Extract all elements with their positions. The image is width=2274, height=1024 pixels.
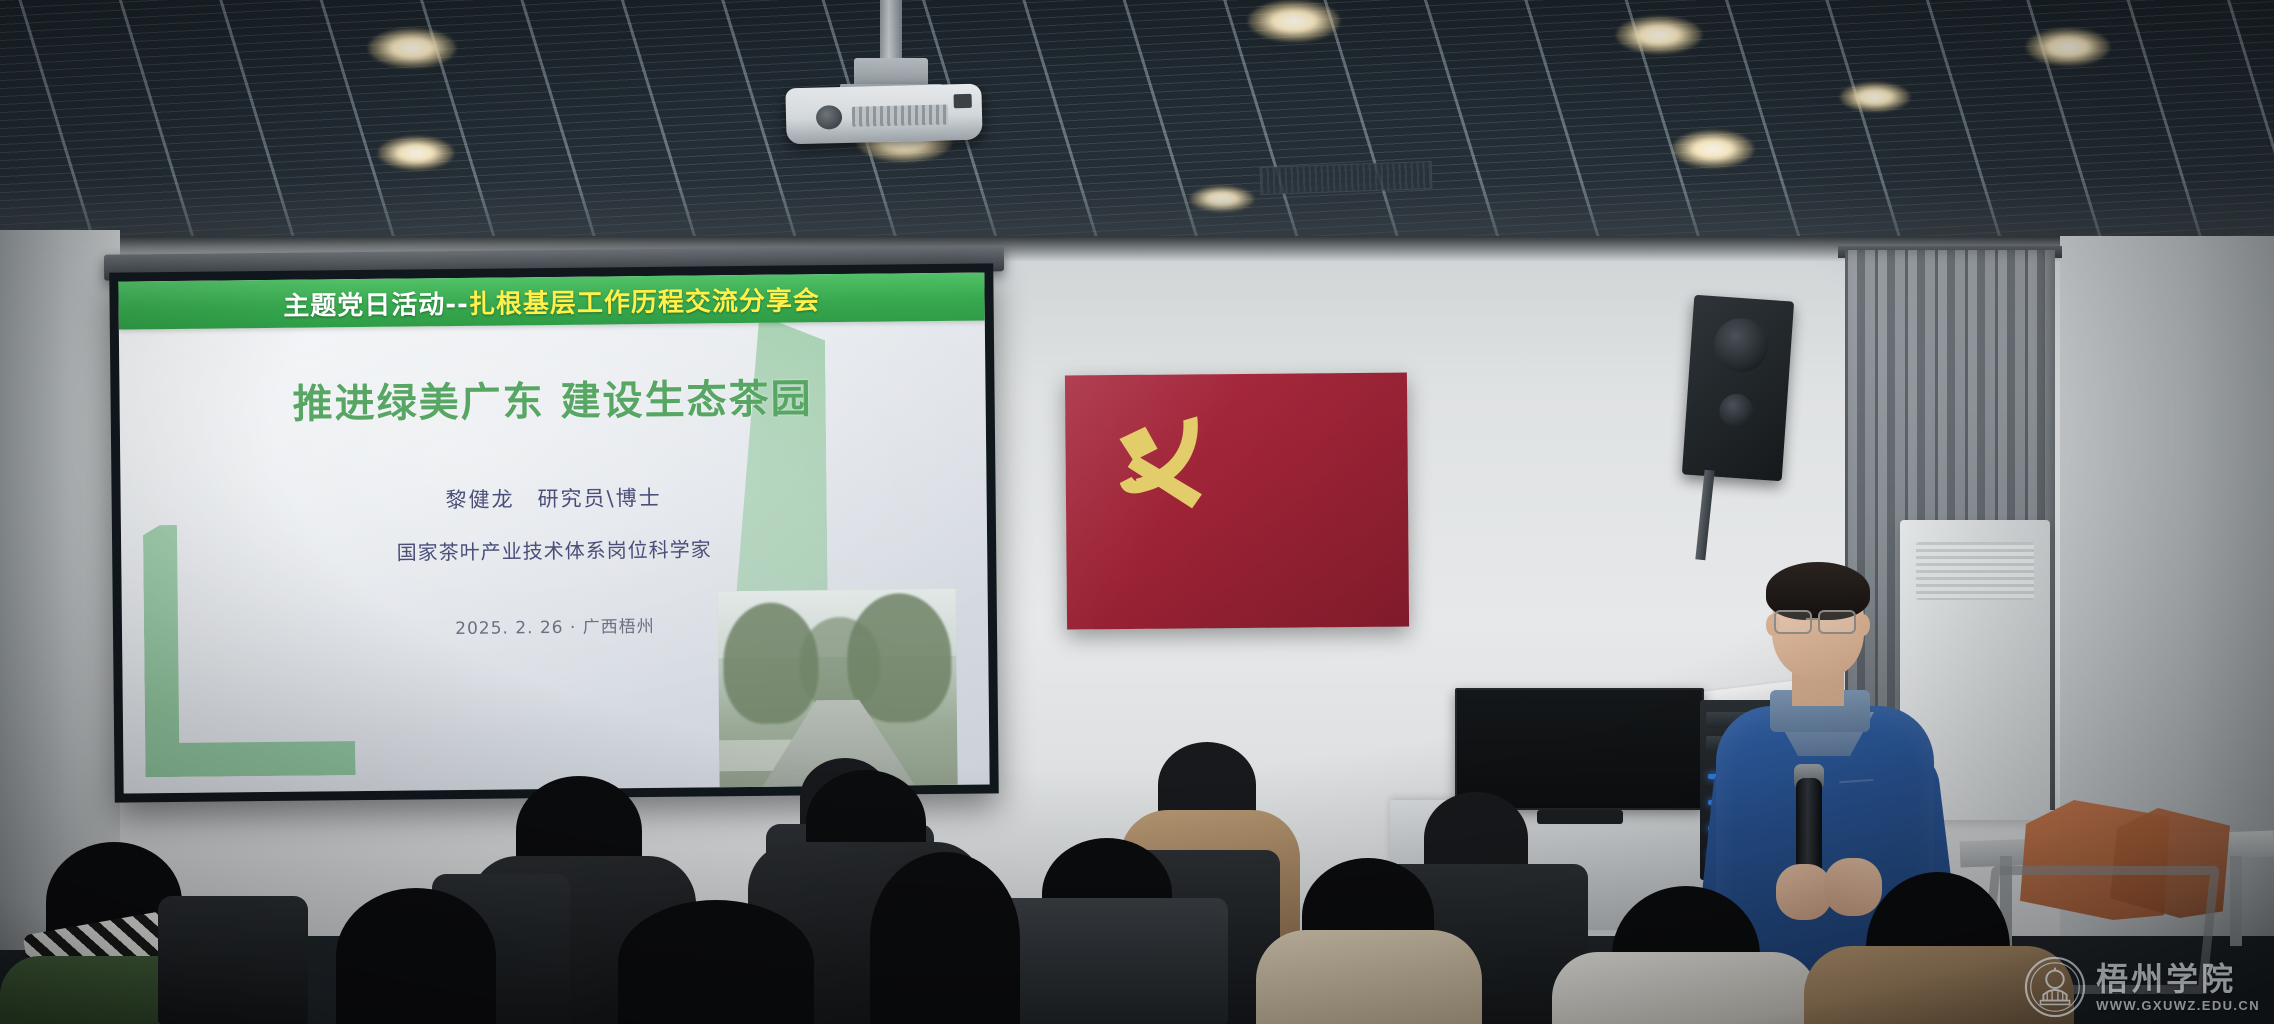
ceiling-projector [785,84,982,145]
watermark-url: WWW.GXUWZ.EDU.CN [2096,999,2260,1012]
watermark: 梧州学院 WWW.GXUWZ.EDU.CN [2024,956,2260,1018]
ceiling-downlight [368,28,456,68]
presenter-glasses [1774,610,1812,634]
presentation-slide: 主题党日活动--扎根基层工作历程交流分享会 推进绿美广东 建设生态茶园 黎健龙 … [118,272,989,793]
watermark-text: 梧州学院 WWW.GXUWZ.EDU.CN [2096,963,2260,1012]
audience-head [336,888,496,1024]
speaker-driver [1712,316,1770,374]
projector-port [954,94,972,108]
speaker-tweeter [1718,393,1754,429]
presentation-photo-scene: 主题党日活动--扎根基层工作历程交流分享会 推进绿美广东 建设生态茶园 黎健龙 … [0,0,2274,1024]
audience-chair [992,898,1228,1024]
projector-vents [852,104,948,126]
projector-lens [816,105,843,130]
presenter-glasses [1818,610,1856,634]
slide-banner-white-text: 主题党日活动-- [283,283,469,322]
ceiling-downlight [1672,130,1754,168]
projector-pole [880,0,902,62]
audience-head [870,852,1020,1024]
slide-title: 推进绿美广东 建设生态茶园 [119,364,986,431]
hammer-and-sickle-icon [1105,410,1226,523]
ceiling-downlight [1840,82,1910,112]
ceiling-downlight [1616,16,1702,54]
slide-banner: 主题党日活动--扎根基层工作历程交流分享会 [118,272,984,329]
monitor-stand [1537,810,1623,824]
projection-screen: 主题党日活动--扎根基层工作历程交流分享会 推进绿美广东 建设生态茶园 黎健龙 … [109,263,999,802]
ceiling-downlight [378,136,454,170]
slide-author: 黎健龙 研究员\博士 [121,478,987,517]
presenter-ear [1856,614,1870,636]
audience-coat [1552,952,1818,1024]
slide-banner-yellow-text: 扎根基层工作历程交流分享会 [469,280,820,321]
presenter-glasses-bridge [1806,618,1820,620]
wall-loudspeaker [1682,295,1794,482]
presenter-right-hand [1824,858,1882,916]
audience-chair [158,896,308,1024]
watermark-institution: 梧州学院 [2096,963,2260,995]
audience-coat [1256,930,1482,1024]
ceiling-downlight [2026,28,2110,66]
ceiling-downlight [1248,0,1340,42]
podium-monitor[interactable] [1455,688,1704,810]
presenter-pocket [1839,779,1875,805]
audience-head [618,900,814,1024]
table-leg [2230,856,2242,946]
wuzhou-university-seal-icon [2024,956,2086,1018]
communist-party-flag [1065,373,1409,630]
